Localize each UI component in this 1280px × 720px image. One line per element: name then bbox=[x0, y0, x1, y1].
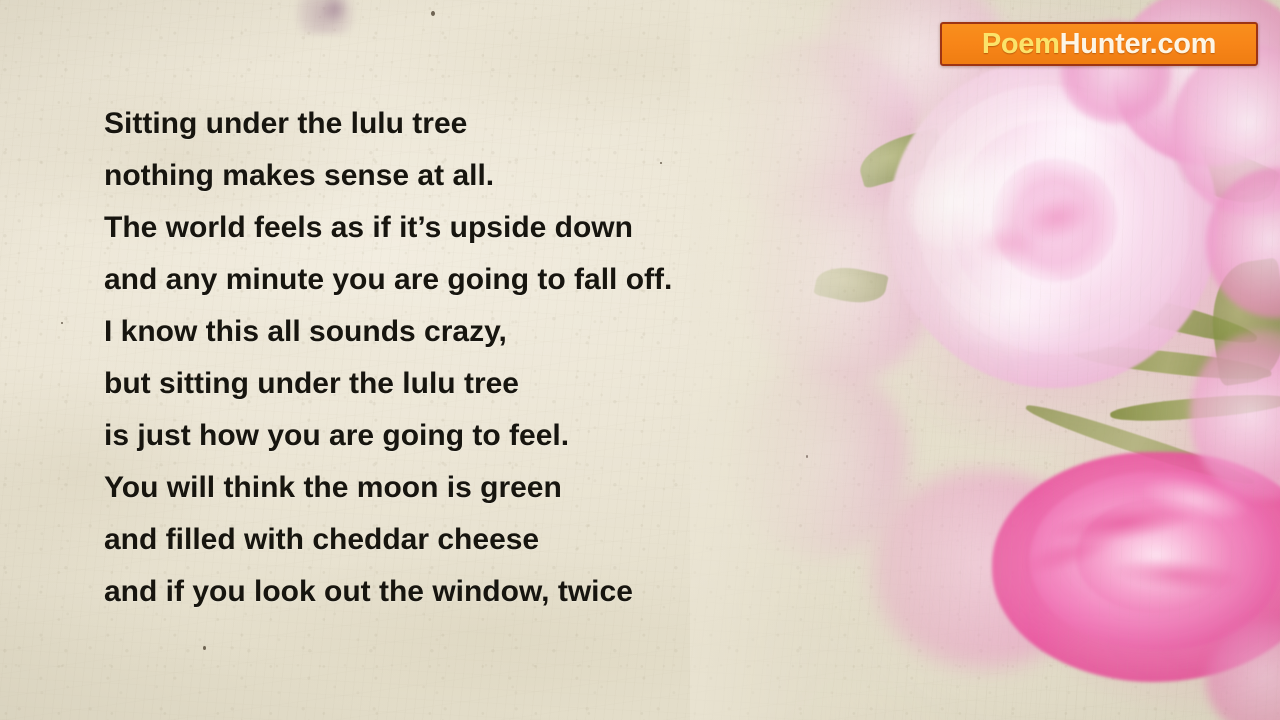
poem-text-block: Sitting under the lulu tree nothing make… bbox=[104, 98, 804, 618]
poem-line: and any minute you are going to fall off… bbox=[104, 254, 804, 306]
poem-line: is just how you are going to feel. bbox=[104, 410, 804, 462]
poemhunter-logo[interactable]: PoemHunter.com bbox=[940, 22, 1258, 66]
poem-line: I know this all sounds crazy, bbox=[104, 306, 804, 358]
logo-text-hunter: Hunter.com bbox=[1060, 28, 1217, 60]
poem-line: Sitting under the lulu tree bbox=[104, 98, 804, 150]
poem-line: and filled with cheddar cheese bbox=[104, 514, 804, 566]
poem-line: The world feels as if it’s upside down bbox=[104, 202, 804, 254]
logo-text-wrapper: PoemHunter.com bbox=[982, 30, 1216, 59]
logo-text-poem: Poem bbox=[982, 28, 1060, 60]
poem-image-canvas: PoemHunter.com Sitting under the lulu tr… bbox=[0, 0, 1280, 720]
poem-line: nothing makes sense at all. bbox=[104, 150, 804, 202]
poem-line: and if you look out the window, twice bbox=[104, 566, 804, 618]
poem-line: You will think the moon is green bbox=[104, 462, 804, 514]
poem-line: but sitting under the lulu tree bbox=[104, 358, 804, 410]
